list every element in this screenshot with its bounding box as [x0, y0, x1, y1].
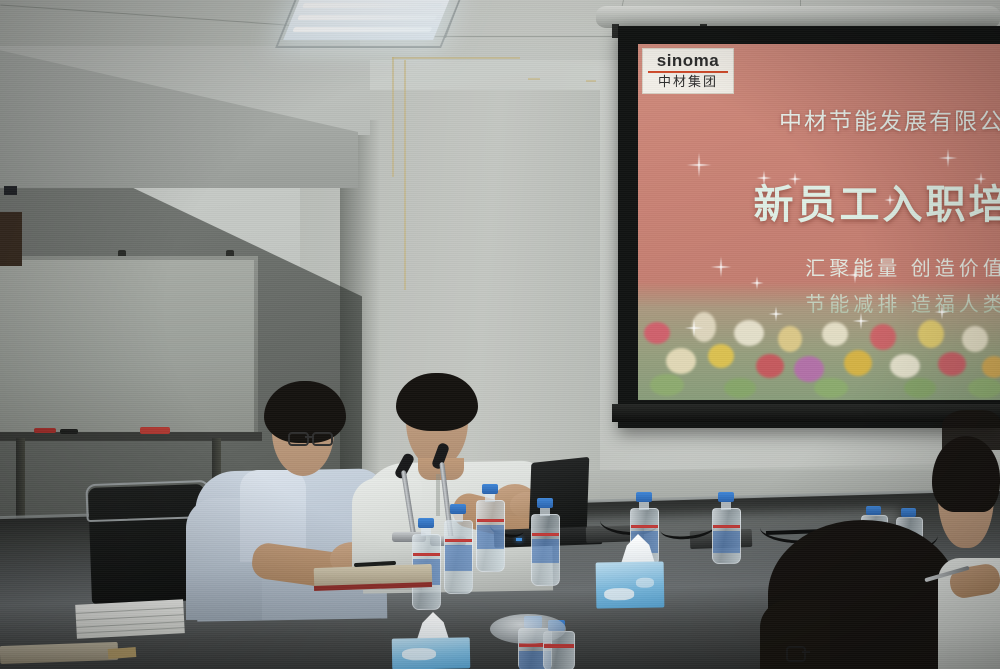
- tissue-box[interactable]: [392, 637, 471, 669]
- screen-roller-housing: [596, 6, 1000, 28]
- whiteboard: [0, 256, 258, 438]
- notebook-corner: [108, 647, 137, 659]
- slide-company-line: 中材节能发展有限公司: [704, 102, 1000, 136]
- slide-title-text: 新员工入职培训: [694, 172, 1000, 230]
- conference-room-photo: sinoma 中材集团 中材节能发展有限公司 新员工入职培训 汇聚能量 创造价值…: [0, 0, 1000, 669]
- whiteboard-surface: [0, 260, 254, 434]
- water-bottle[interactable]: [476, 500, 505, 572]
- slide-slogan-line-1: 汇聚能量 创造价值: [730, 252, 1000, 281]
- person-left-glasses: [288, 432, 332, 442]
- bottle-cap: [450, 504, 466, 514]
- door-edge: [0, 212, 22, 266]
- tissue-box[interactable]: [596, 561, 665, 608]
- bottle-cap: [866, 506, 881, 515]
- sparkle-icon: [710, 256, 732, 278]
- attendee-foreground-glasses: [786, 646, 820, 658]
- sinoma-logo-chinese: 中材集团: [646, 74, 730, 90]
- sinoma-logo-rule: [648, 71, 728, 73]
- water-bottle[interactable]: [444, 520, 473, 594]
- slide-slogan-text-1: 汇聚能量 创造价值: [730, 252, 1000, 281]
- slide-flower-band: [638, 282, 1000, 400]
- sinoma-logo-wordmark: sinoma: [646, 51, 730, 70]
- paper-stack[interactable]: [75, 599, 185, 639]
- whiteboard-marker: [60, 429, 78, 434]
- wall-tape-mark: [586, 80, 596, 82]
- wall-fitting: [4, 186, 17, 195]
- wall-tape-mark: [404, 60, 406, 290]
- laptop-status-led: [516, 538, 522, 541]
- wall-tape-mark: [392, 57, 520, 59]
- attendee-right-head-top: [942, 410, 1000, 450]
- slide-company-text: 中材节能发展有限公司: [704, 102, 1000, 136]
- sinoma-logo: sinoma 中材集团: [642, 48, 734, 94]
- sparkle-icon: [938, 148, 958, 168]
- projected-slide: sinoma 中材集团 中材节能发展有限公司 新员工入职培训 汇聚能量 创造价值…: [638, 44, 1000, 400]
- person-right-lanyard: [436, 474, 440, 516]
- bottle-cap: [537, 498, 553, 508]
- bottle-cap: [482, 484, 498, 494]
- person-right-hair: [396, 373, 478, 431]
- projection-screen-bottom-bar: [612, 404, 1000, 422]
- ceiling-light-frame: [275, 0, 463, 48]
- bottle-cap: [636, 492, 652, 502]
- bottle-cap: [418, 518, 434, 528]
- bottle-cap: [901, 508, 916, 517]
- whiteboard-tray: [0, 432, 262, 441]
- water-bottle[interactable]: [712, 508, 741, 564]
- whiteboard-marker: [34, 428, 56, 433]
- water-bottle[interactable]: [531, 514, 560, 586]
- slide-title-line: 新员工入职培训: [694, 172, 1000, 230]
- ashtray[interactable]: [490, 614, 566, 644]
- bottle-cap: [718, 492, 734, 502]
- wall-tape-mark: [528, 78, 540, 80]
- wall-tape-mark: [392, 57, 394, 177]
- whiteboard-eraser: [140, 427, 170, 434]
